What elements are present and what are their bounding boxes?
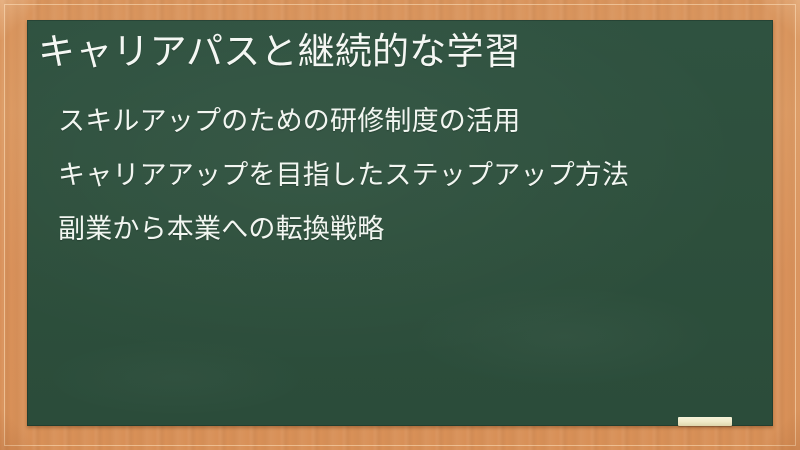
slide-title: キャリアパスと継続的な学習 xyxy=(38,30,758,74)
bullet-item: キャリアアップを目指したステップアップ方法 xyxy=(58,162,758,189)
bullet-item: 副業から本業への転換戦略 xyxy=(58,216,758,243)
chalkboard-slide: キャリアパスと継続的な学習 スキルアップのための研修制度の活用 キャリアアップを… xyxy=(0,0,800,450)
bullet-list: スキルアップのための研修制度の活用 キャリアアップを目指したステップアップ方法 … xyxy=(58,108,758,243)
chalk-stick-icon xyxy=(678,417,732,426)
chalkboard-surface: キャリアパスと継続的な学習 スキルアップのための研修制度の活用 キャリアアップを… xyxy=(27,20,773,426)
bullet-item: スキルアップのための研修制度の活用 xyxy=(58,108,758,135)
